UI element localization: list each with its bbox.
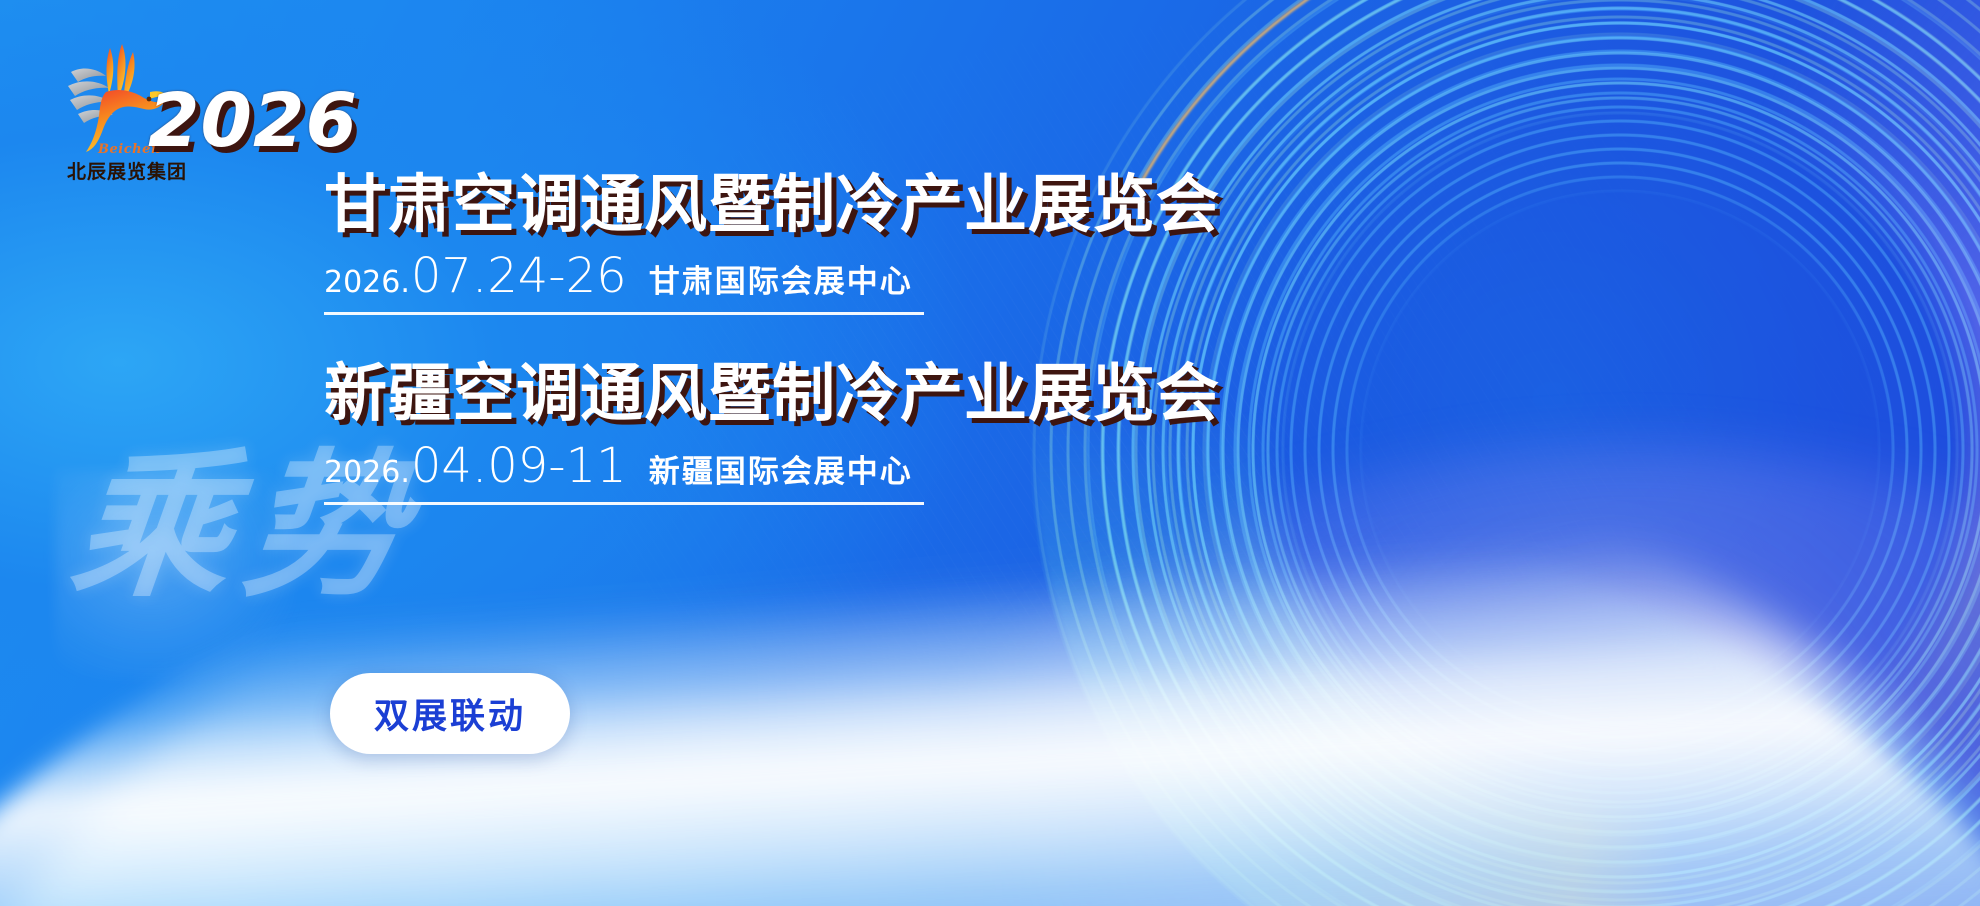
event-venue: 甘肃国际会展中心 <box>649 256 913 301</box>
event-item-xinjiang: 新疆空调通风暨制冷产业展览会 2026. 04.09-11 新疆国际会展中心 <box>324 357 1324 504</box>
promo-banner: 乘势 <box>0 0 1980 906</box>
event-subline: 2026. 07.24-26 甘肃国际会展中心 <box>324 248 924 315</box>
light-sweep-glow <box>880 446 1980 906</box>
event-date: 07.24-26 <box>411 248 627 304</box>
event-title: 甘肃空调通风暨制冷产业展览会 <box>324 168 1324 242</box>
event-list: 甘肃空调通风暨制冷产业展览会 2026. 07.24-26 甘肃国际会展中心 新… <box>324 168 1324 509</box>
event-date: 04.09-11 <box>411 438 627 494</box>
year-headline: 2026 <box>148 78 358 164</box>
event-venue: 新疆国际会展中心 <box>649 446 913 491</box>
event-year: 2026. <box>324 455 410 490</box>
event-subline: 2026. 04.09-11 新疆国际会展中心 <box>324 438 924 505</box>
dual-expo-badge[interactable]: 双展联动 <box>330 673 570 754</box>
event-item-gansu: 甘肃空调通风暨制冷产业展览会 2026. 07.24-26 甘肃国际会展中心 <box>324 168 1324 315</box>
event-title: 新疆空调通风暨制冷产业展览会 <box>324 357 1324 431</box>
event-year: 2026. <box>324 265 410 300</box>
